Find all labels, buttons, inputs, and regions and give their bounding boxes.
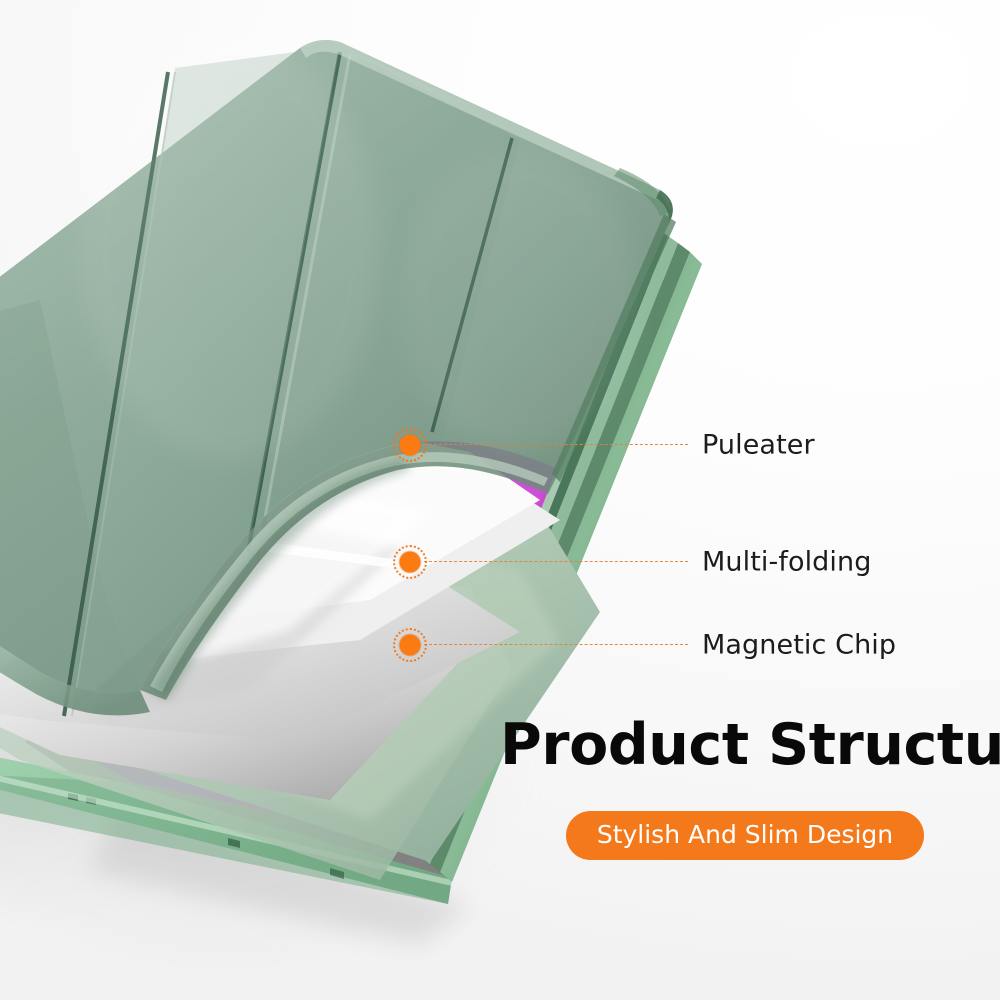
callout-dot-core-icon	[400, 435, 421, 456]
headline-block: Product Structure Stylish And Slim Desig…	[500, 716, 990, 860]
tagline-badge: Stylish And Slim Design	[566, 811, 924, 860]
leader-line	[424, 561, 688, 562]
callout-dot-icon[interactable]	[393, 628, 427, 662]
leader-line	[424, 644, 688, 645]
callout-dot-icon[interactable]	[393, 545, 427, 579]
callout-dot-icon[interactable]	[393, 428, 427, 462]
page-title: Product Structure	[500, 716, 990, 775]
callout-dot-core-icon	[400, 552, 421, 573]
callout-label-magnetic-chip: Magnetic Chip	[702, 630, 896, 661]
callout-dot-core-icon	[400, 635, 421, 656]
leader-line	[424, 444, 688, 445]
product-marketing-image: Puleater Multi-folding Magnetic Chip Pro…	[0, 0, 1000, 1000]
callout-label-puleater: Puleater	[702, 430, 815, 461]
callout-label-multi-folding: Multi-folding	[702, 547, 871, 578]
